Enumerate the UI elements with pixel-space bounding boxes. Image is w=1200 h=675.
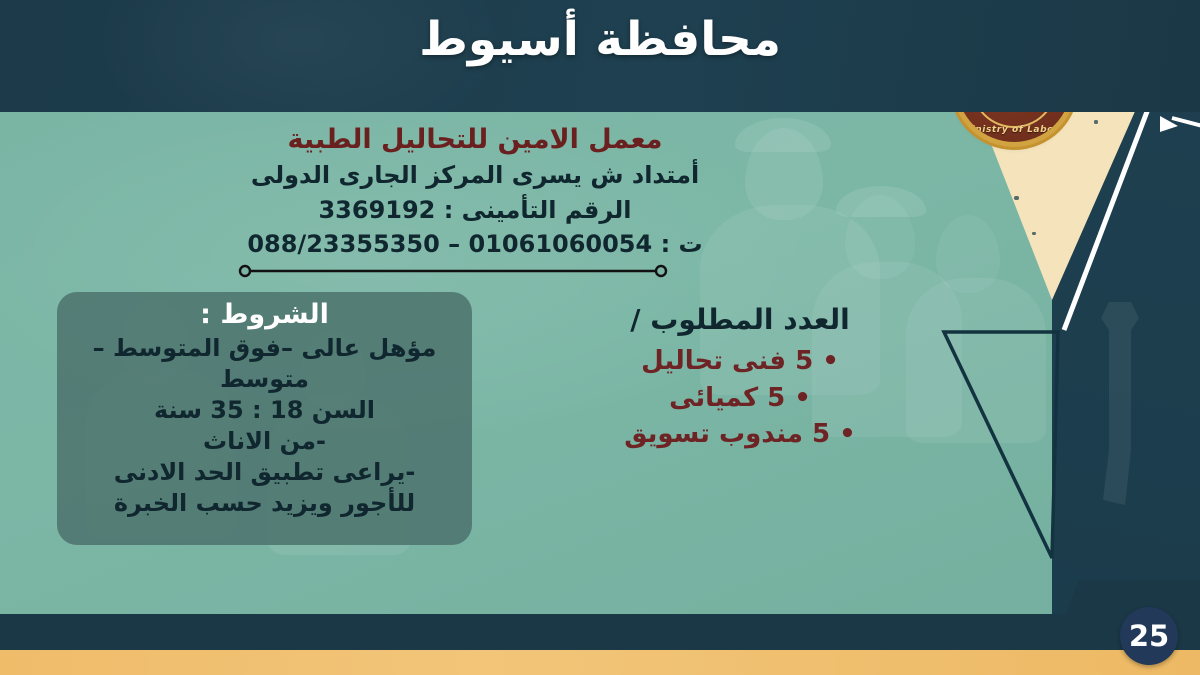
- conditions-title: الشروط :: [73, 298, 456, 333]
- employer-phones: ت : 01061060054 – 088/23355350: [180, 227, 770, 261]
- page-title: محافظة أسيوط: [0, 8, 1200, 71]
- slide-root: وزارة العمل: [0, 0, 1200, 675]
- bottom-navy-band: [0, 614, 1200, 650]
- dark-triangle-outline-decoration: [930, 320, 1070, 570]
- required-item-marketing-rep: • 5 مندوب تسويق: [575, 416, 905, 452]
- employer-info-block: معمل الامين للتحاليل الطبية أمتداد ش يسر…: [180, 122, 770, 261]
- horizontal-divider: [238, 264, 668, 278]
- employer-insurance-number: الرقم التأمينى : 3369192: [180, 193, 770, 227]
- conditions-box: الشروط : مؤهل عالى –فوق المتوسط – متوسط …: [57, 292, 472, 545]
- required-item-lab-technician: • 5 فنى تحاليل: [575, 343, 905, 379]
- conditions-item-wage: -يراعى تطبيق الحد الادنى للأجور ويزيد حس…: [73, 457, 456, 519]
- employer-address: أمتداد ش يسرى المركز الجارى الدولى: [180, 158, 770, 192]
- seal-english-label: Ministry of Labour: [957, 125, 1071, 135]
- page-number-badge: 25: [1120, 607, 1178, 665]
- conditions-item-gender: -من الاناث: [73, 426, 456, 457]
- required-positions-title: العدد المطلوب /: [575, 300, 905, 339]
- bottom-gold-band: [0, 650, 1200, 675]
- conditions-item-age: السن 18 : 35 سنة: [73, 395, 456, 426]
- required-positions-block: العدد المطلوب / • 5 فنى تحاليل • 5 كميائ…: [575, 300, 905, 452]
- conditions-item-qualification: مؤهل عالى –فوق المتوسط – متوسط: [73, 333, 456, 395]
- employer-name: معمل الامين للتحاليل الطبية: [180, 122, 770, 158]
- required-item-chemist: • 5 كميائى: [575, 380, 905, 416]
